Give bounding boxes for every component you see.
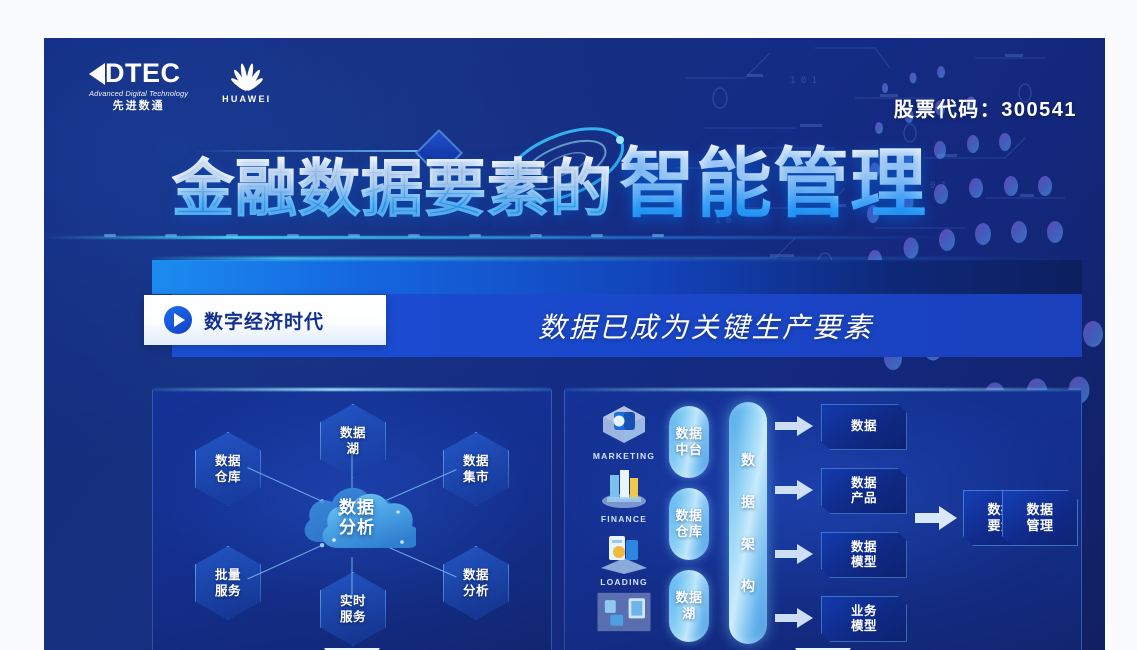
dtec-logo-word: DTEC — [105, 60, 181, 87]
output-box-2-label: 数据模型 — [851, 540, 877, 571]
header-glow-divider — [44, 236, 1105, 239]
source-item-3[interactable] — [587, 591, 661, 638]
final-box-data-management[interactable]: 数据管理 — [1002, 490, 1078, 546]
title-block: 金融数据要素的智能管理 — [44, 134, 1105, 224]
page-title-part2: 智能管理 — [619, 139, 927, 228]
source-item-1-caption: FINANCE — [587, 514, 661, 524]
node-hex-4-label: 实时服务 — [340, 593, 366, 625]
source-item-0[interactable]: MARKETING — [587, 402, 661, 461]
node-hex-0-label: 数据仓库 — [215, 453, 241, 485]
source-item-2-caption: LOADING — [587, 577, 661, 587]
output-box-0[interactable]: 数据 — [821, 404, 907, 450]
finance-chart-icon — [593, 465, 655, 511]
dtec-arrow-icon — [89, 63, 105, 85]
section-badge[interactable]: 数字经济时代 — [144, 295, 386, 345]
dtec-logo: DTEC Advanced Digital Technology 先进数通 — [89, 60, 188, 112]
stock-code-label: 股票代码：300541 — [894, 93, 1077, 122]
left-diagram-panel: 数据仓库 数据湖 数据集市 批量服务 实时服务 数据分析 — [152, 390, 552, 650]
huawei-logo: HUAWEI — [222, 60, 271, 104]
platform-pill-0-label: 数据中台 — [675, 426, 702, 457]
architecture-char-0: 数 — [741, 450, 755, 470]
output-box-3-label: 业务模型 — [851, 604, 877, 635]
source-icon-column: MARKETING FINANCE — [587, 402, 661, 640]
logo-group: DTEC Advanced Digital Technology 先进数通 HU… — [89, 60, 271, 112]
platform-pill-1[interactable]: 数据仓库 — [669, 488, 709, 560]
dtec-logo-tagline: Advanced Digital Technology — [89, 90, 188, 98]
node-hex-2-label: 数据集市 — [463, 453, 489, 485]
huawei-logo-word: HUAWEI — [222, 94, 271, 104]
platform-pill-1-label: 数据仓库 — [675, 508, 702, 539]
section-bar-top — [152, 260, 1082, 294]
section-headline: 数据已成为关键生产要素 — [538, 306, 874, 346]
flow-arrow-merge — [915, 504, 959, 532]
play-icon — [164, 306, 192, 334]
architecture-char-2: 架 — [741, 534, 755, 554]
huawei-fan-icon — [225, 60, 269, 90]
architecture-char-1: 据 — [741, 492, 755, 512]
output-box-1-label: 数据产品 — [851, 476, 877, 507]
node-hex-5-label: 数据分析 — [463, 567, 489, 599]
dtec-logo-cn: 先进数通 — [89, 101, 188, 112]
flow-arrow-1 — [775, 478, 815, 502]
loading-server-icon — [593, 528, 655, 574]
page-title: 金融数据要素的智能管理 — [172, 146, 927, 222]
platform-pill-2[interactable]: 数据湖 — [669, 570, 709, 642]
center-cloud-label: 数据 分析 — [298, 468, 416, 556]
platform-pill-2-label: 数据湖 — [675, 590, 702, 621]
section-badge-label: 数字经济时代 — [204, 307, 324, 334]
page-title-part1: 金融数据要素的 — [172, 152, 613, 225]
data-device-icon — [593, 591, 655, 633]
flow-arrow-2 — [775, 542, 815, 566]
flow-arrow-3 — [775, 606, 815, 630]
flow-arrow-0 — [775, 414, 815, 438]
source-item-0-caption: MARKETING — [587, 451, 661, 461]
slide-canvas: 1 0 10 11 0 — [44, 38, 1105, 650]
center-cloud-node[interactable]: 数据 分析 — [298, 468, 416, 556]
source-item-1[interactable]: FINANCE — [587, 465, 661, 524]
source-item-2[interactable]: LOADING — [587, 528, 661, 587]
final-box-data-management-label: 数据管理 — [1026, 502, 1053, 534]
output-box-0-label: 数据 — [851, 419, 877, 434]
marketing-cube-icon — [593, 402, 655, 448]
output-box-1[interactable]: 数据产品 — [821, 468, 907, 514]
dtec-logo-mark: DTEC — [89, 60, 188, 87]
architecture-pill[interactable]: 数 据 架 构 — [729, 402, 767, 644]
node-hex-1-label: 数据湖 — [340, 425, 366, 457]
output-box-3[interactable]: 业务模型 — [821, 596, 907, 642]
node-hex-3-label: 批量服务 — [215, 567, 241, 599]
architecture-char-3: 构 — [741, 576, 755, 596]
output-box-2[interactable]: 数据模型 — [821, 532, 907, 578]
platform-pill-0[interactable]: 数据中台 — [669, 406, 709, 478]
